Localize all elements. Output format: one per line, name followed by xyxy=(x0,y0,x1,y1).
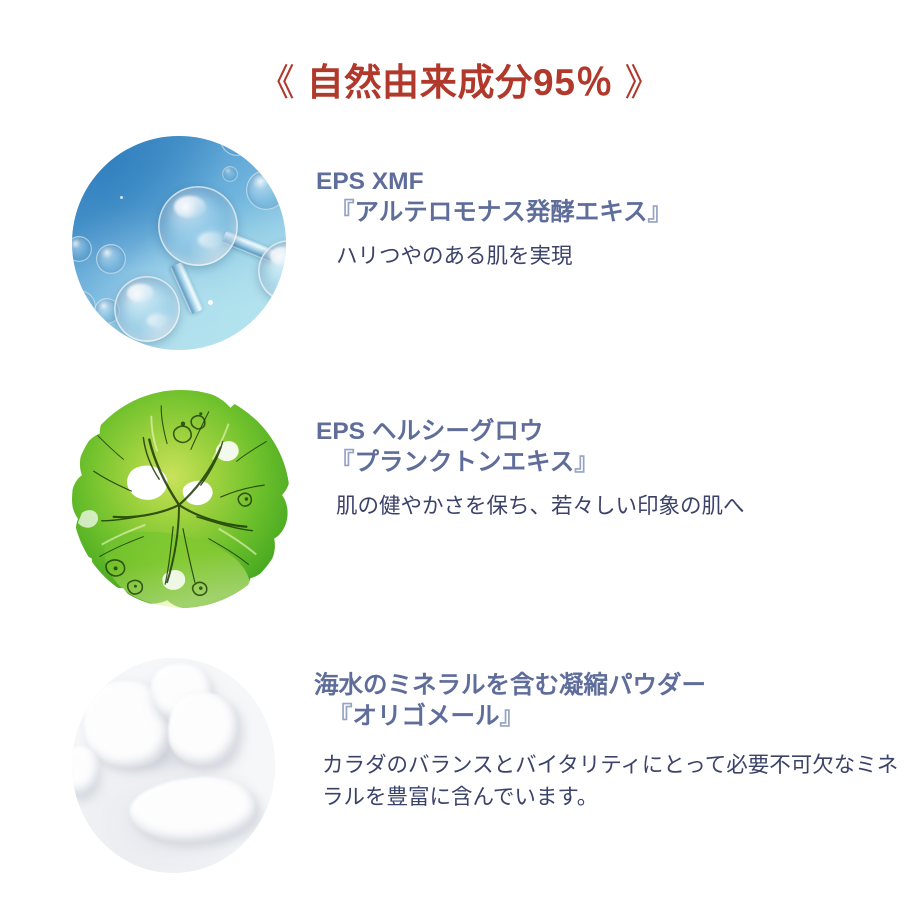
ingredient-heading-line2: 『オリゴメール』 xyxy=(314,701,914,732)
bracket-close: 』 xyxy=(500,703,525,730)
title-bracket-left: 《 xyxy=(258,62,296,103)
title-text: 自然由来成分95％ xyxy=(307,62,614,103)
ingredient-heading-line1: 海水のミネラルを含む凝縮パウダー xyxy=(314,672,706,699)
ingredient-heading-line2: 『プランクトンエキス』 xyxy=(316,447,745,478)
bubble-icon xyxy=(222,166,238,182)
ingredient-description: 肌の健やかさを保ち、若々しい印象の肌へ xyxy=(316,490,745,522)
ingredient-name: アルテロモナス発酵エキス xyxy=(355,199,648,226)
bubble-icon xyxy=(96,244,126,274)
page-title: 《 自然由来成分95％ 》 xyxy=(0,52,920,106)
white-mineral-powder-circle xyxy=(72,658,275,873)
blue-water-molecule-circle xyxy=(72,136,286,350)
bracket-close: 』 xyxy=(648,199,673,226)
ingredient-description: カラダのバランスとバイタリティにとって必要不可欠なミネラルを豊富に含んでいます。 xyxy=(314,749,914,814)
ingredient-name: プランクトンエキス xyxy=(355,449,575,476)
ingredient-text-2: EPS ヘルシーグロウ 『プランクトンエキス』 肌の健やかさを保ち、若々しい印象… xyxy=(316,416,745,522)
ingredient-infographic: 《 自然由来成分95％ 》 EPS XMF 『 xyxy=(0,0,920,920)
ingredient-heading: 海水のミネラルを含む凝縮パウダー 『オリゴメール』 xyxy=(314,670,914,733)
ingredient-heading-line1: EPS XMF xyxy=(316,168,424,195)
ingredient-row-3: 海水のミネラルを含む凝縮パウダー 『オリゴメール』 カラダのバランスとバイタリテ… xyxy=(0,658,920,874)
ingredient-text-1: EPS XMF 『アルテロモナス発酵エキス』 ハリつやのある肌を実現 xyxy=(316,166,672,272)
highlight-dot xyxy=(120,196,123,199)
highlight-dot xyxy=(208,300,213,305)
ingredient-description: ハリつやのある肌を実現 xyxy=(316,240,672,272)
ingredient-name: オリゴメール xyxy=(353,703,500,730)
ingredient-text-3: 海水のミネラルを含む凝縮パウダー 『オリゴメール』 カラダのバランスとバイタリテ… xyxy=(314,670,914,813)
ingredient-heading-line2: 『アルテロモナス発酵エキス』 xyxy=(316,197,672,228)
ingredient-row-1: EPS XMF 『アルテロモナス発酵エキス』 ハリつやのある肌を実現 xyxy=(0,136,920,351)
molecule-sphere xyxy=(158,186,238,266)
bracket-open: 『 xyxy=(330,449,355,476)
ingredient-row-2: EPS ヘルシーグロウ 『プランクトンエキス』 肌の健やかさを保ち、若々しい印象… xyxy=(0,388,920,612)
algae-illustration xyxy=(72,388,290,610)
bracket-open: 『 xyxy=(328,703,353,730)
title-bracket-right: 》 xyxy=(624,62,662,103)
green-algae-circle xyxy=(72,388,290,610)
molecule-sphere xyxy=(114,276,180,342)
bracket-open: 『 xyxy=(330,199,355,226)
ingredient-heading-line1: EPS ヘルシーグロウ xyxy=(316,418,543,445)
bracket-close: 』 xyxy=(574,449,599,476)
ingredient-heading: EPS ヘルシーグロウ 『プランクトンエキス』 xyxy=(316,416,745,479)
ingredient-heading: EPS XMF 『アルテロモナス発酵エキス』 xyxy=(316,166,672,229)
